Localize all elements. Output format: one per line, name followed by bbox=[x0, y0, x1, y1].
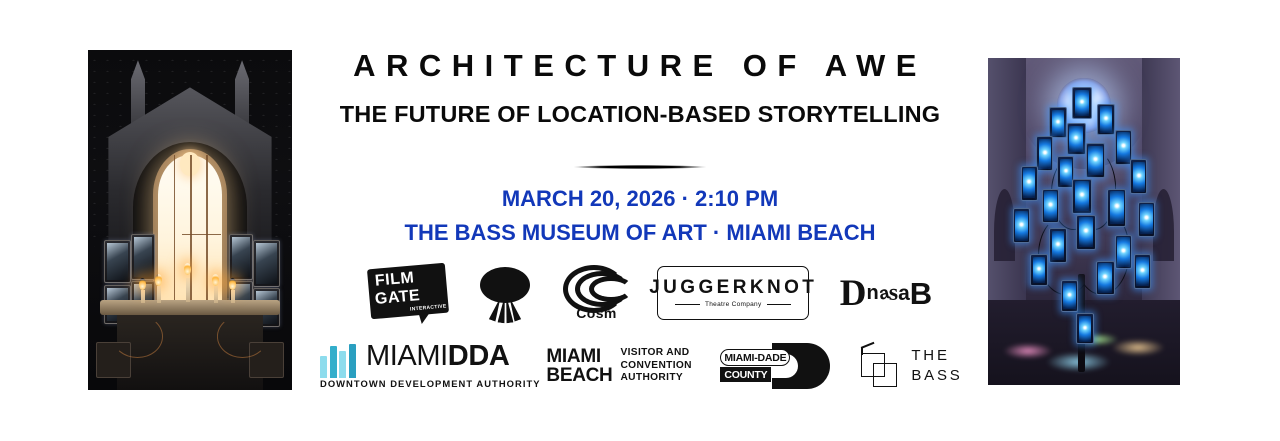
dda-wordmark: MIAMIDDA bbox=[366, 342, 509, 371]
the-bass-wordmark: THE BASS bbox=[911, 346, 962, 387]
event-venue: THE BASS MUSEUM OF ART · MIAMI BEACH bbox=[310, 222, 970, 244]
logo-dnasab[interactable]: D n a s a B bbox=[832, 269, 940, 317]
floor-light-pool bbox=[1111, 339, 1165, 355]
dda-subtitle: DOWNTOWN DEVELOPMENT AUTHORITY bbox=[320, 378, 541, 389]
tree-phone bbox=[1134, 254, 1151, 289]
tree-phone bbox=[1138, 202, 1155, 237]
tree-canopy-icon bbox=[480, 267, 530, 303]
dnasab-letter-d: D bbox=[840, 275, 867, 312]
miami-beach-wordmark: MIAMI BEACH bbox=[546, 347, 612, 386]
tree-phone bbox=[1021, 166, 1038, 201]
logo-miami-beach-vca[interactable]: MIAMI BEACH VISITOR AND CONVENTION AUTHO… bbox=[542, 340, 697, 392]
county-label: COUNTY bbox=[720, 367, 771, 382]
vca-line3: AUTHORITY bbox=[620, 372, 691, 385]
tree-phone bbox=[1107, 189, 1126, 227]
vca-line2: CONVENTION bbox=[620, 360, 691, 373]
the-bass-cube-icon bbox=[859, 345, 903, 387]
bass-line2: BASS bbox=[911, 366, 962, 386]
altar-phone bbox=[104, 240, 130, 283]
film-gate-line1: FILM bbox=[374, 270, 415, 289]
cable bbox=[217, 315, 268, 358]
rule-left bbox=[675, 304, 700, 305]
logo-tree-mark[interactable] bbox=[474, 261, 536, 325]
vca-line1: VISITOR AND bbox=[620, 347, 691, 360]
candle-flame bbox=[139, 278, 146, 290]
tree-phone bbox=[1061, 280, 1078, 311]
altar-phone bbox=[131, 234, 155, 280]
dda-word-miami: MIAMI bbox=[366, 340, 448, 372]
candle bbox=[141, 290, 145, 304]
tree-phone bbox=[1072, 179, 1091, 214]
tree-phone bbox=[1067, 123, 1086, 154]
tree-phone bbox=[1036, 136, 1053, 171]
tree-phone bbox=[1049, 228, 1066, 263]
event-banner: ARCHITECTURE OF AWE THE FUTURE OF LOCATI… bbox=[0, 0, 1280, 441]
vca-wordmark: VISITOR AND CONVENTION AUTHORITY bbox=[620, 347, 691, 386]
rule-right bbox=[767, 304, 792, 305]
altar-table bbox=[100, 300, 280, 315]
tree-phone bbox=[1076, 215, 1095, 250]
floor-light-pool bbox=[1003, 343, 1053, 359]
divider-rule bbox=[573, 165, 707, 169]
logo-miami-dade-county[interactable]: MIAMI-DADE COUNTY bbox=[718, 341, 830, 391]
altar-phone bbox=[229, 234, 253, 280]
tree-phone bbox=[1097, 104, 1114, 135]
juggerknot-subtitle: Theatre Company bbox=[705, 301, 762, 308]
artwork-left-gothic-altar bbox=[88, 50, 292, 390]
candle-flame bbox=[229, 278, 236, 290]
window-mullion bbox=[174, 155, 176, 308]
tree-phone bbox=[1115, 235, 1132, 270]
mb-line2: BEACH bbox=[546, 366, 612, 385]
candle bbox=[186, 278, 190, 302]
dnasab-letter-b: B bbox=[910, 278, 932, 309]
page-subtitle: THE FUTURE OF LOCATION-BASED STORYTELLIN… bbox=[310, 103, 970, 127]
event-date: MARCH 20, 2026 · 2:10 PM bbox=[310, 188, 970, 210]
dda-word-dda: DDA bbox=[448, 340, 510, 372]
candle-flame bbox=[184, 263, 191, 275]
miami-dade-label: MIAMI-DADE bbox=[720, 349, 790, 366]
mb-line1: MIAMI bbox=[546, 347, 612, 366]
window-transom bbox=[182, 234, 221, 235]
tree-phone bbox=[1072, 87, 1091, 118]
juggerknot-subtitle-row: Theatre Company bbox=[675, 301, 791, 308]
juggerknot-wordmark: JUGGERKNOT bbox=[649, 278, 817, 297]
logo-film-gate-interactive[interactable]: FILM GATE INTERACTIVE bbox=[365, 260, 451, 326]
tree-phone bbox=[1049, 107, 1066, 138]
dda-buildings-icon bbox=[320, 344, 362, 378]
logo-cosm[interactable]: Cosm bbox=[559, 262, 635, 324]
altar-phone bbox=[253, 240, 279, 286]
logo-miami-dda[interactable]: MIAMIDDA DOWNTOWN DEVELOPMENT AUTHORITY bbox=[320, 338, 520, 394]
tree-phone bbox=[1130, 159, 1147, 194]
partner-logos-top-row: FILM GATE INTERACTIVE Cosm JUGGERKNOT Th… bbox=[365, 258, 940, 328]
bass-line1: THE bbox=[911, 346, 962, 366]
logo-the-bass[interactable]: THE BASS bbox=[852, 340, 970, 392]
tree-phone bbox=[1030, 254, 1047, 285]
tree-phone bbox=[1076, 313, 1093, 344]
tree-phone bbox=[1042, 189, 1059, 224]
tree-phone bbox=[1013, 208, 1030, 243]
artwork-right-cathedral-phone-tree bbox=[988, 58, 1180, 385]
window-mullion bbox=[190, 155, 192, 308]
logo-juggerknot-theatre-company[interactable]: JUGGERKNOT Theatre Company bbox=[657, 266, 809, 320]
partner-logos-bottom-row: MIAMIDDA DOWNTOWN DEVELOPMENT AUTHORITY … bbox=[320, 335, 970, 397]
tree-phone bbox=[1086, 143, 1105, 178]
candle bbox=[214, 286, 218, 303]
candle bbox=[231, 290, 235, 304]
candle bbox=[157, 286, 161, 303]
page-title: ARCHITECTURE OF AWE bbox=[310, 50, 970, 81]
tree-phone bbox=[1096, 261, 1115, 296]
window-mullion bbox=[206, 155, 208, 308]
cosm-arcs-icon bbox=[563, 265, 631, 303]
dnasab-letter-a2: a bbox=[898, 283, 910, 304]
